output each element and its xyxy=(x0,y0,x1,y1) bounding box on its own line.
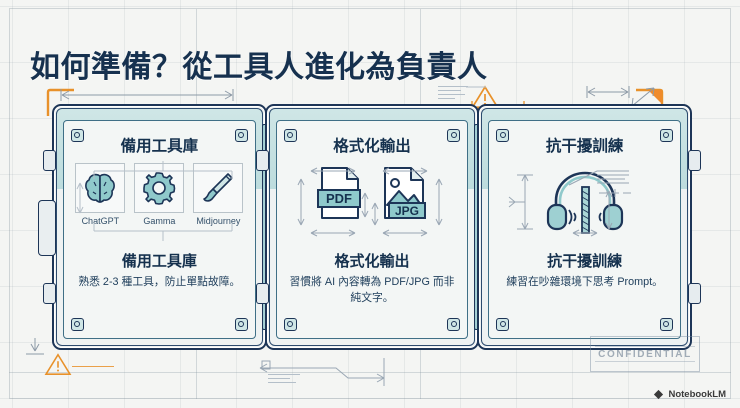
case-latch xyxy=(43,150,56,171)
panel-heading: 備用工具庫 xyxy=(64,134,255,156)
screw-icon xyxy=(235,318,248,331)
panel-artwork: ChatGPT Gamma xyxy=(64,163,255,241)
annotation-lines xyxy=(438,86,468,102)
screw-icon xyxy=(447,318,460,331)
notebooklm-icon xyxy=(653,389,664,400)
panel-heading: 抗干擾訓練 xyxy=(489,134,680,156)
case-handle xyxy=(38,200,56,256)
stamp-label: CONFIDENTIAL xyxy=(598,349,692,360)
dimension-guides xyxy=(277,163,469,243)
slide-canvas: 如何準備？從工具人進化為負責人 xyxy=(0,0,740,408)
screw-icon xyxy=(496,129,509,142)
bracket-guides xyxy=(70,161,256,241)
annotation-lines xyxy=(268,374,300,386)
panel-backup-toolkit[interactable]: 備用工具庫 xyxy=(52,104,267,350)
panel-subheading: 抗干擾訓練 xyxy=(489,250,680,271)
panel-description: 熟悉 2-3 種工具，防止單點故障。 xyxy=(64,275,255,291)
page-title: 如何準備？從工具人進化為負責人 xyxy=(30,42,488,86)
screw-icon xyxy=(284,318,297,331)
warning-triangle-icon xyxy=(44,352,72,376)
dimension-guides xyxy=(489,163,681,243)
dimension-arrow xyxy=(58,88,236,102)
screw-icon xyxy=(235,129,248,142)
case-latch xyxy=(256,150,269,171)
leader-line xyxy=(72,366,114,367)
panel-description: 習慣將 AI 內容轉為 PDF/JPG 而非純文字。 xyxy=(277,275,468,306)
screw-icon xyxy=(71,129,84,142)
screw-icon xyxy=(496,318,509,331)
panel-artwork: PDF JPG xyxy=(277,163,468,241)
panel-heading: 格式化輸出 xyxy=(277,134,468,156)
case-latch xyxy=(688,150,701,171)
panel-noise-resistance[interactable]: 抗干擾訓練 xyxy=(477,104,692,350)
dimension-arrow xyxy=(236,356,436,396)
screw-icon xyxy=(71,318,84,331)
screw-icon xyxy=(660,129,673,142)
confidential-stamp: CONFIDENTIAL xyxy=(590,336,700,372)
brand-label: NotebookLM xyxy=(668,389,726,400)
panel-description: 練習在吵雜環境下思考 Prompt。 xyxy=(489,275,680,291)
screw-icon xyxy=(284,129,297,142)
panel-artwork xyxy=(489,163,680,241)
panel-row: 備用工具庫 xyxy=(52,104,692,350)
brand-mark: NotebookLM xyxy=(653,389,726,400)
panel-subheading: 格式化輸出 xyxy=(277,250,468,271)
case-latch xyxy=(256,283,269,304)
case-latch xyxy=(688,283,701,304)
screw-icon xyxy=(447,129,460,142)
case-latch xyxy=(43,283,56,304)
panel-subheading: 備用工具庫 xyxy=(64,250,255,271)
screw-icon xyxy=(660,318,673,331)
panel-formatted-output[interactable]: 格式化輸出 xyxy=(265,104,480,350)
dimension-arrow xyxy=(22,336,48,358)
